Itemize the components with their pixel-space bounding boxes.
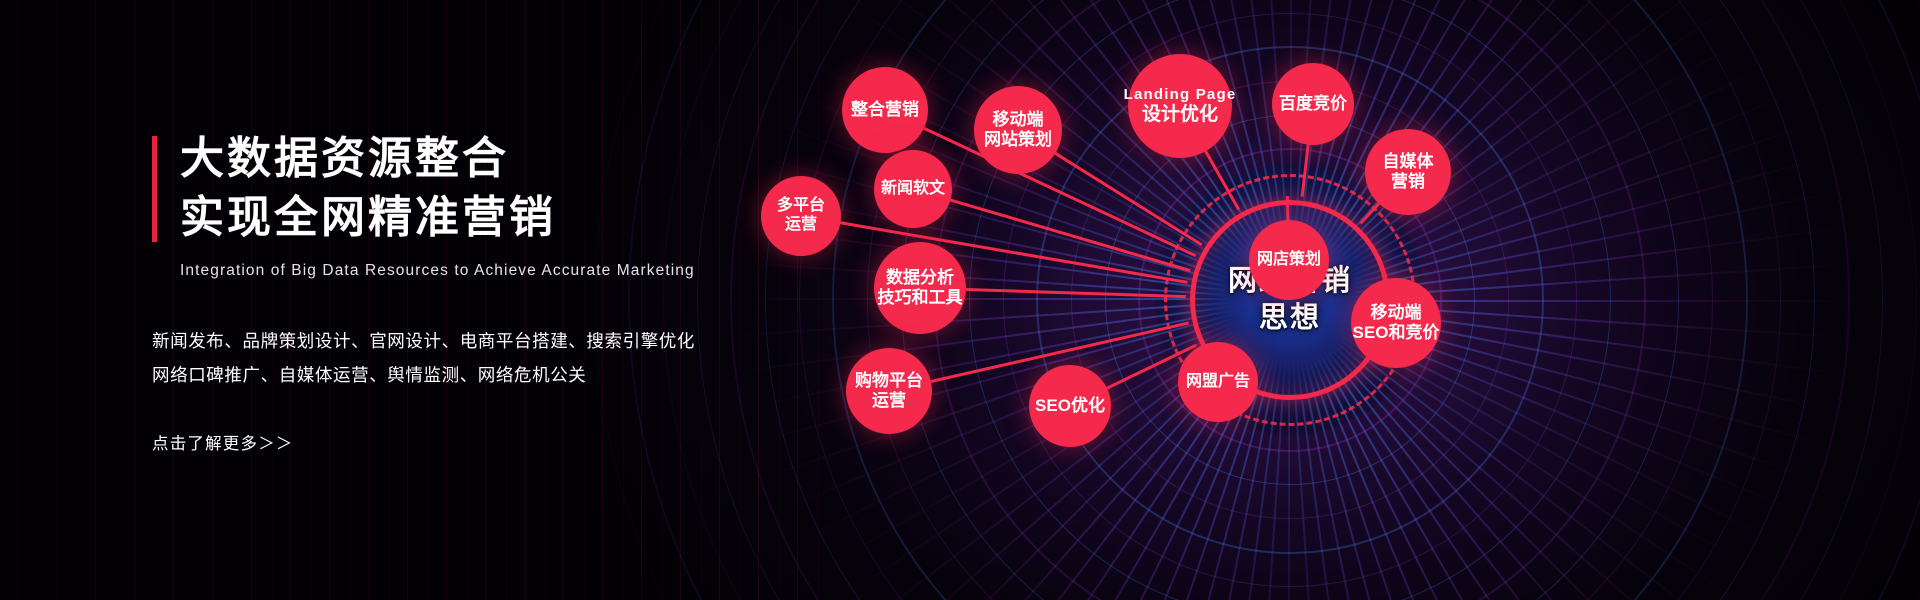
copy-block: 大数据资源整合 实现全网精准营销 Integration of Big Data…: [152, 130, 792, 454]
bubble-node-zhenghe-yingxiao[interactable]: 整合营销: [842, 67, 928, 153]
bubble-label-line1: 百度竞价: [1279, 94, 1347, 114]
bubble-node-yidongduan-wangzhan[interactable]: 移动端网站策划: [974, 86, 1062, 174]
headline-line1: 大数据资源整合: [180, 130, 792, 189]
bubble-label-line1: 移动端: [1371, 303, 1422, 323]
bubble-label-line1: 购物平台: [855, 371, 923, 391]
bubble-node-seo-youhua[interactable]: SEO优化: [1029, 365, 1111, 447]
bubble-label-line1: 整合营销: [851, 100, 919, 120]
bubble-node-wangdian-cehua[interactable]: 网店策划: [1249, 220, 1329, 300]
headline: 大数据资源整合 实现全网精准营销: [152, 130, 792, 248]
bubble-label-line2: 营销: [1391, 172, 1425, 192]
bubble-label-line2: SEO和竞价: [1353, 323, 1440, 343]
bubble-node-shuju-fenxi[interactable]: 数据分析技巧和工具: [874, 242, 966, 334]
body-line-2: 网络口碑推广、自媒体运营、舆情监测、网络危机公关: [152, 358, 792, 392]
bubble-node-baidu-jingjia[interactable]: 百度竞价: [1272, 63, 1354, 145]
bubble-label-line2: 网站策划: [984, 130, 1052, 150]
bubble-label-line1: 网店策划: [1257, 251, 1321, 270]
bubble-label-line1: Landing Page: [1124, 86, 1237, 104]
bubble-node-wangmeng-guanggao[interactable]: 网盟广告: [1178, 342, 1258, 422]
bubble-label-line1: 数据分析: [886, 268, 954, 288]
bubble-label-line1: 网盟广告: [1186, 373, 1250, 392]
hub-label-line2: 思想: [1259, 303, 1321, 334]
bubble-label-line2: 设计优化: [1142, 104, 1218, 126]
headline-line2: 实现全网精准营销: [180, 189, 792, 248]
bubble-label-line1: SEO优化: [1035, 396, 1105, 416]
banner-stage: 网络营销 思想 整合营销移动端网站策划Landing Page设计优化百度竞价自…: [0, 0, 1920, 600]
body-line-1: 新闻发布、品牌策划设计、官网设计、电商平台搭建、搜索引擎优化: [152, 324, 792, 358]
bubble-label-line2: 技巧和工具: [878, 288, 963, 308]
subtitle: Integration of Big Data Resources to Ach…: [180, 262, 792, 280]
bubble-node-xinwen-ruanwen[interactable]: 新闻软文: [874, 150, 952, 228]
bubble-label-line2: 运营: [872, 391, 906, 411]
bubble-node-gouwu-pingtai[interactable]: 购物平台运营: [846, 348, 932, 434]
bubble-label-line1: 自媒体: [1383, 152, 1434, 172]
bubble-node-landing-page[interactable]: Landing Page设计优化: [1128, 54, 1232, 158]
bubble-label-line1: 移动端: [993, 110, 1044, 130]
bubble-label-line1: 新闻软文: [881, 180, 945, 199]
bubble-node-yidongduan-seo[interactable]: 移动端SEO和竞价: [1351, 278, 1441, 368]
body-copy: 新闻发布、品牌策划设计、官网设计、电商平台搭建、搜索引擎优化 网络口碑推广、自媒…: [152, 324, 792, 392]
cta-link[interactable]: 点击了解更多＞＞: [152, 430, 792, 454]
bubble-node-zimeiti-yingxiao[interactable]: 自媒体营销: [1365, 129, 1451, 215]
